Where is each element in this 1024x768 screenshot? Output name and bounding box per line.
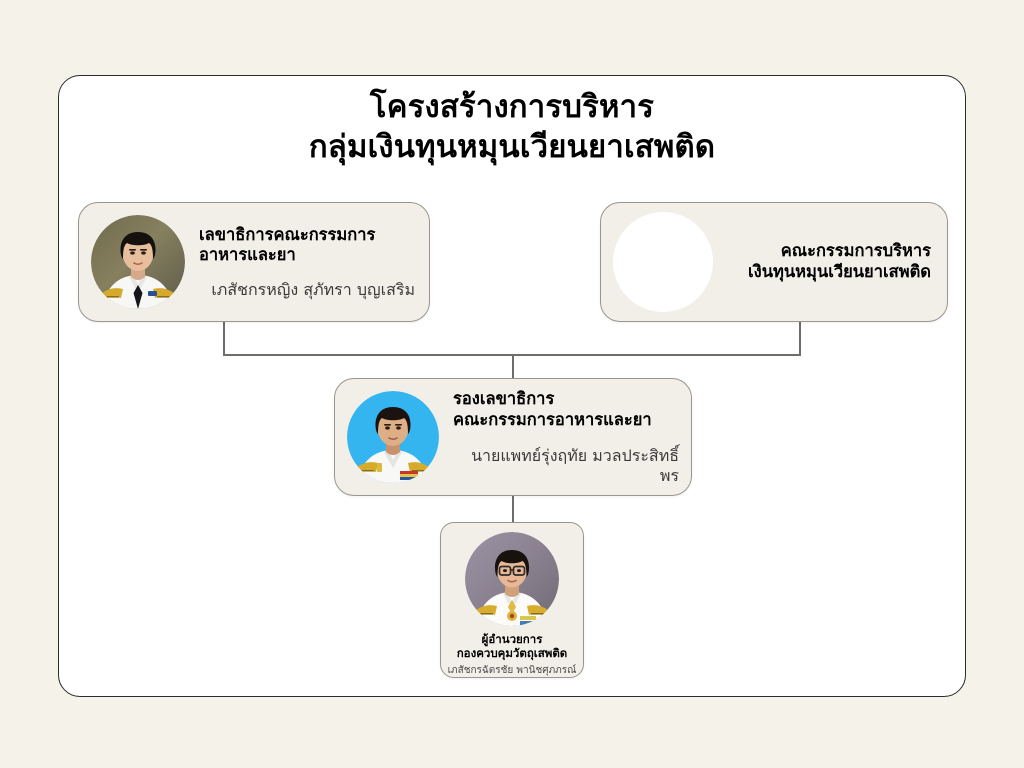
role-line-2: เงินทุนหมุนเวียนยาเสพติด: [748, 262, 931, 283]
role-line-1: ผู้อำนวยการ: [457, 632, 568, 646]
portrait-deputy-secretary-general: [347, 391, 439, 483]
person-deputy-secretary-general: นายแพทย์รุ่งฤทัย มวลประสิทธิ์พร: [453, 446, 679, 484]
connector-bottom-drop: [512, 495, 514, 523]
portrait-secretary-general: [91, 215, 185, 309]
person-secretary-general: เภสัชกรหญิง สุภัทรา บุญเสริม: [199, 280, 415, 299]
role-deputy-secretary-general: รองเลขาธิการ คณะกรรมการอาหารและยา: [453, 389, 679, 430]
role-line-2: อาหารและยา: [199, 245, 415, 266]
portrait-division-director: [465, 532, 559, 626]
node-division-director[interactable]: ผู้อำนวยการ กองควบคุมวัตถุเสพติด เภสัชกร…: [440, 522, 584, 678]
node-secretary-general[interactable]: เลขาธิการคณะกรรมการ อาหารและยา เภสัชกรหญ…: [78, 202, 430, 322]
role-line-2: คณะกรรมการอาหารและยา: [453, 410, 679, 431]
connector-middle-drop: [512, 354, 514, 379]
role-secretary-general: เลขาธิการคณะกรรมการ อาหารและยา: [199, 225, 415, 266]
role-line-1: รองเลขาธิการ: [453, 389, 679, 410]
org-chart-canvas: โครงสร้างการบริหาร กลุ่มเงินทุนหมุนเวียน…: [0, 0, 1024, 768]
role-line-2: กองควบคุมวัตถุเสพติด: [457, 646, 568, 660]
role-line-1: เลขาธิการคณะกรรมการ: [199, 225, 415, 246]
node-fund-committee[interactable]: คณะกรรมการบริหาร เงินทุนหมุนเวียนยาเสพติ…: [600, 202, 948, 322]
role-line-1: คณะกรรมการบริหาร: [748, 241, 931, 262]
page-title-line-2: กลุ่มเงินทุนหมุนเวียนยาเสพติด: [58, 128, 966, 168]
page-title-line-1: โครงสร้างการบริหาร: [58, 88, 966, 128]
page-title: โครงสร้างการบริหาร กลุ่มเงินทุนหมุนเวียน…: [58, 88, 966, 167]
role-division-director: ผู้อำนวยการ กองควบคุมวัตถุเสพติด: [457, 632, 568, 661]
role-fund-committee: คณะกรรมการบริหาร เงินทุนหมุนเวียนยาเสพติ…: [748, 241, 931, 282]
connector-left-drop: [223, 322, 225, 355]
portrait-placeholder-fund-committee: [613, 212, 713, 312]
node-deputy-secretary-general[interactable]: รองเลขาธิการ คณะกรรมการอาหารและยา นายแพท…: [334, 378, 692, 496]
connector-right-drop: [799, 322, 801, 355]
person-division-director: เภสัชกรฉัตรชัย พานิชศุภภรณ์: [448, 665, 577, 677]
